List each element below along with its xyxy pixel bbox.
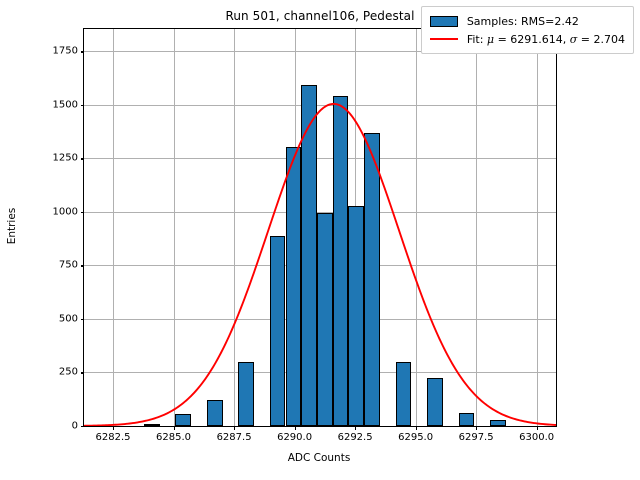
legend-fit-prefix: Fit: bbox=[467, 33, 487, 46]
y-tick-mark bbox=[81, 265, 85, 266]
y-tick-label: 1750 bbox=[53, 46, 78, 57]
plot-area: 025050075010001250150017506282.56285.062… bbox=[83, 28, 557, 427]
y-tick-mark bbox=[81, 319, 85, 320]
legend-entry-samples: Samples: RMS=2.42 bbox=[429, 12, 625, 30]
x-tick-mark bbox=[174, 426, 175, 430]
y-tick-mark bbox=[81, 105, 85, 106]
legend-line-icon bbox=[429, 33, 459, 46]
x-tick-mark bbox=[476, 426, 477, 430]
x-tick-label: 6300.0 bbox=[519, 432, 554, 443]
y-tick-label: 1500 bbox=[53, 99, 78, 110]
legend-label-fit: Fit: μ = 6291.614, σ = 2.704 bbox=[467, 33, 625, 46]
x-tick-label: 6292.5 bbox=[338, 432, 373, 443]
y-tick-mark bbox=[81, 426, 85, 427]
y-tick-label: 500 bbox=[59, 313, 78, 324]
legend-bar-patch-icon bbox=[429, 15, 459, 28]
x-tick-label: 6282.5 bbox=[96, 432, 131, 443]
x-tick-mark bbox=[234, 426, 235, 430]
y-tick-mark bbox=[81, 51, 85, 52]
y-tick-label: 0 bbox=[72, 421, 78, 432]
x-tick-label: 6287.5 bbox=[217, 432, 252, 443]
legend-mu-value: = 6291.614, bbox=[494, 33, 570, 46]
y-tick-label: 1000 bbox=[53, 206, 78, 217]
legend-sigma-value: = 2.704 bbox=[577, 33, 625, 46]
y-tick-mark bbox=[81, 372, 85, 373]
legend-mu-symbol: μ bbox=[487, 33, 494, 46]
x-tick-label: 6297.5 bbox=[459, 432, 494, 443]
x-tick-label: 6290.0 bbox=[277, 432, 312, 443]
x-tick-mark bbox=[295, 426, 296, 430]
x-tick-label: 6295.0 bbox=[398, 432, 433, 443]
x-tick-mark bbox=[537, 426, 538, 430]
x-axis-label: ADC Counts bbox=[83, 452, 555, 464]
fit-curve-path bbox=[84, 104, 556, 426]
legend-label-samples: Samples: RMS=2.42 bbox=[467, 15, 579, 28]
y-tick-mark bbox=[81, 212, 85, 213]
y-tick-mark bbox=[81, 158, 85, 159]
y-tick-label: 250 bbox=[59, 367, 78, 378]
x-tick-mark bbox=[416, 426, 417, 430]
x-tick-mark bbox=[355, 426, 356, 430]
y-tick-label: 1250 bbox=[53, 153, 78, 164]
x-tick-label: 6285.0 bbox=[156, 432, 191, 443]
gaussian-fit-curve bbox=[84, 29, 556, 426]
y-tick-label: 750 bbox=[59, 260, 78, 271]
chart-legend: Samples: RMS=2.42 Fit: μ = 6291.614, σ =… bbox=[421, 6, 634, 54]
legend-entry-fit: Fit: μ = 6291.614, σ = 2.704 bbox=[429, 30, 625, 48]
chart-figure: Run 501, channel106, Pedestal Entries AD… bbox=[0, 0, 640, 480]
fit-curve-svg bbox=[84, 29, 556, 426]
x-tick-mark bbox=[113, 426, 114, 430]
y-axis-label: Entries bbox=[6, 208, 18, 245]
